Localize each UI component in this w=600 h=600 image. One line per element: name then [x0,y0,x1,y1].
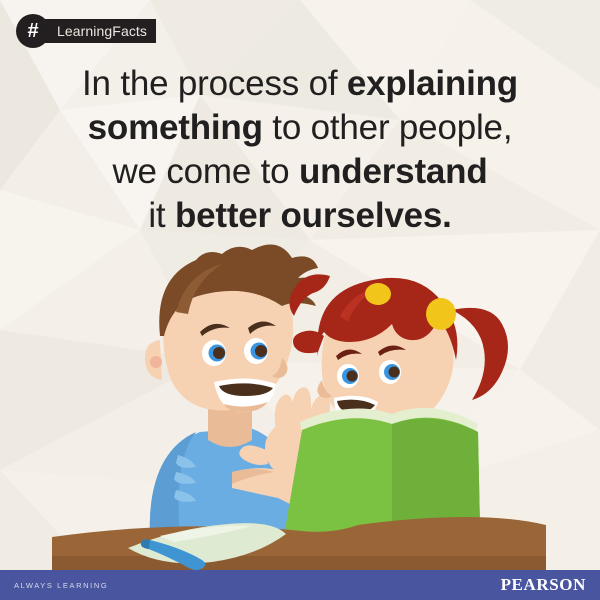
quote-line-4-bold: better ourselves. [175,196,452,235]
quote-line-4-plain: it [148,196,175,235]
quote-line-1-bold: explaining [347,64,518,103]
girl-hair-tie-side [426,298,456,330]
girl-hair-tie-top [365,283,391,305]
footer-tagline: ALWAYS LEARNING [14,581,108,590]
quote-line-4: it better ourselves. [30,194,570,238]
pearson-footer: ALWAYS LEARNING PEARSON [0,570,600,600]
quote-line-3-bold: understand [299,152,488,191]
quote-line-2-bold: something [88,108,263,147]
boy-eye-right-pupil [255,345,267,357]
quote-line-2: something to other people, [30,106,570,150]
boy-ear-blush [150,356,162,368]
hashtag-badge: # LearningFacts [16,14,156,48]
girl-eye-left-pupil [347,371,358,382]
quote-line-2-plain: to other people, [263,108,513,147]
quote-line-1-plain: In the process of [82,64,347,103]
quote-text: In the process of explaining something t… [30,62,570,238]
quote-line-3-plain: we come to [112,152,299,191]
boy-eye-left-pupil [213,347,225,359]
learning-facts-quote-card: # LearningFacts In the process of explai… [0,0,600,600]
girl-hair-front-lock [293,331,324,353]
hash-icon: # [16,14,50,48]
girl-pigtail-right [452,308,508,400]
badge-label: LearningFacts [41,19,156,43]
quote-line-1: In the process of explaining [30,62,570,106]
pearson-logo: PEARSON [501,575,586,595]
boy-finger-1 [275,394,294,432]
desk-front-edge [52,556,546,570]
quote-line-3: we come to understand [30,150,570,194]
girl-eye-right-pupil [389,367,400,378]
